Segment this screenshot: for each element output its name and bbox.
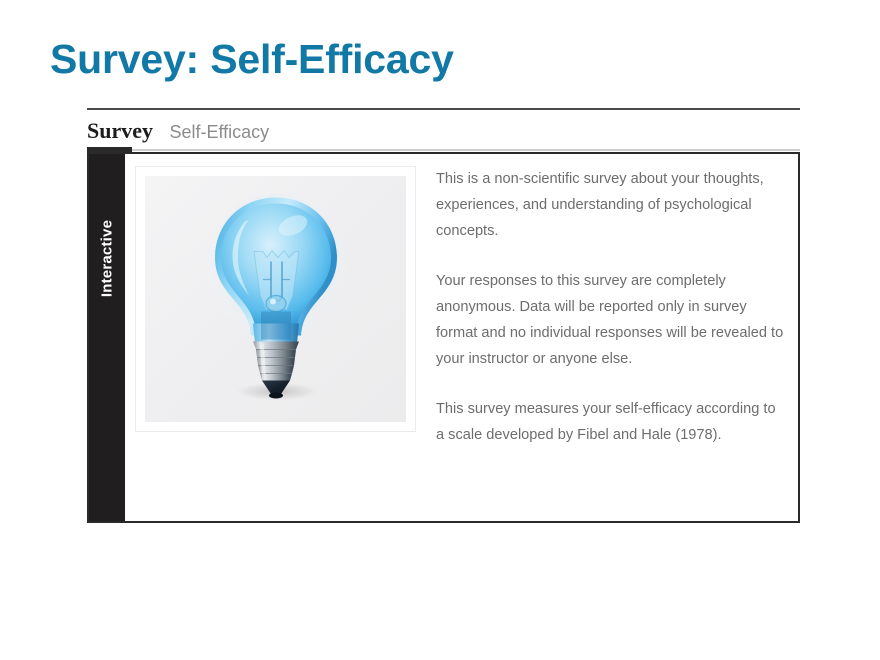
- interactive-panel: Interactive: [87, 152, 800, 523]
- panel-body: This is a non-scientific survey about yo…: [125, 154, 798, 521]
- section-header: Survey Self-Efficacy: [87, 110, 800, 152]
- lightbulb-icon: [201, 192, 351, 407]
- interactive-tab-strip[interactable]: Interactive: [89, 154, 125, 521]
- survey-image-card[interactable]: [135, 166, 416, 432]
- interactive-tab-label: Interactive: [99, 220, 116, 297]
- page-title: Survey: Self-Efficacy: [50, 36, 454, 83]
- section-header-title: Survey: [87, 118, 153, 144]
- header-underline-rule: [132, 149, 800, 151]
- survey-content-block: Survey Self-Efficacy Interactive: [87, 108, 800, 523]
- survey-image-backdrop: [145, 176, 406, 422]
- section-header-subtitle: Self-Efficacy: [169, 122, 269, 143]
